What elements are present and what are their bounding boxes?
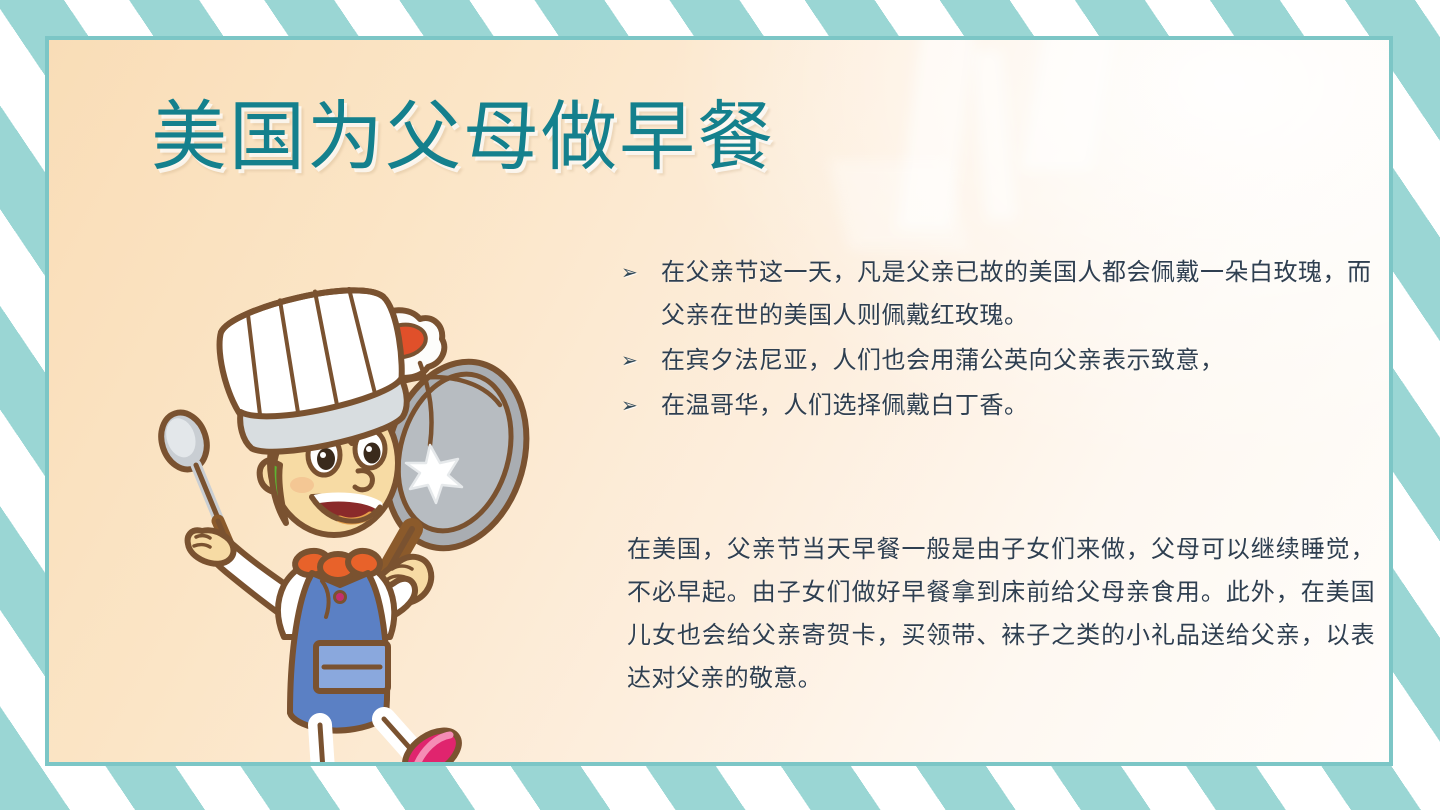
watermark-shape <box>829 160 968 250</box>
watermark-shape <box>897 36 976 230</box>
slide-root: 美国为父母做早餐 ➢ 在父亲节这一天，凡是父亲已故的美国人都会佩戴一朵白玫瑰，而… <box>0 0 1440 810</box>
list-item-text: 在宾夕法尼亚，人们也会用蒲公英向父亲表示致意， <box>661 340 1381 383</box>
arrow-bullet-icon: ➢ <box>621 385 661 428</box>
chef-boy-illustration <box>144 285 594 766</box>
list-item-text: 在温哥华，人们选择佩戴白丁香。 <box>661 385 1381 428</box>
list-item-text: 在父亲节这一天，凡是父亲已故的美国人都会佩戴一朵白玫瑰，而父亲在世的美国人则佩戴… <box>661 252 1381 338</box>
watermark-shape <box>972 50 1017 220</box>
arrow-bullet-icon: ➢ <box>621 340 661 383</box>
watermark-shape <box>1021 36 1117 170</box>
arrow-bullet-icon: ➢ <box>621 252 661 295</box>
list-item: ➢ 在温哥华，人们选择佩戴白丁香。 <box>621 385 1381 428</box>
content-card: 美国为父母做早餐 ➢ 在父亲节这一天，凡是父亲已故的美国人都会佩戴一朵白玫瑰，而… <box>45 36 1393 766</box>
body-paragraph: 在美国，父亲节当天早餐一般是由子女们来做，父母可以继续睡觉，不必早起。由子女们做… <box>627 529 1375 701</box>
spoon-icon <box>154 407 230 549</box>
list-item: ➢ 在父亲节这一天，凡是父亲已故的美国人都会佩戴一朵白玫瑰，而父亲在世的美国人则… <box>621 252 1381 338</box>
page-title: 美国为父母做早餐 <box>151 100 775 176</box>
bullet-list: ➢ 在父亲节这一天，凡是父亲已故的美国人都会佩戴一朵白玫瑰，而父亲在世的美国人则… <box>621 252 1381 430</box>
list-item: ➢ 在宾夕法尼亚，人们也会用蒲公英向父亲表示致意， <box>621 340 1381 383</box>
